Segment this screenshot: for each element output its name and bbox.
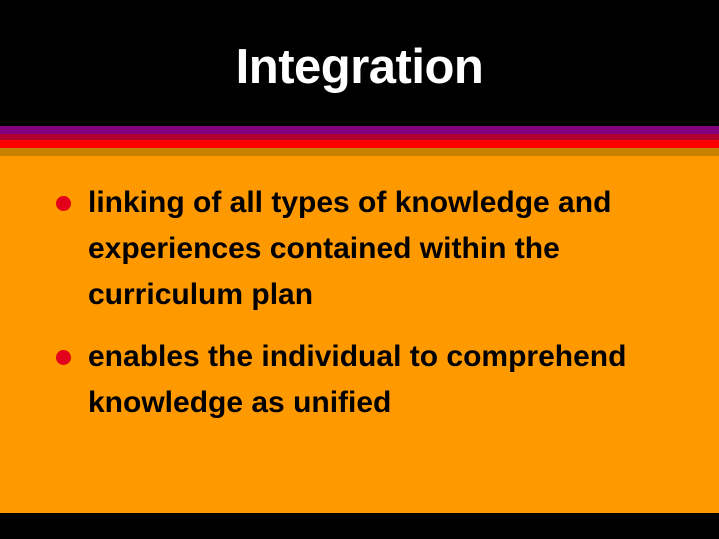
accent-stripe-purple — [0, 126, 719, 134]
list-item: linking of all types of knowledge and ex… — [52, 180, 682, 318]
slide-title: Integration — [0, 38, 719, 96]
title-band: Integration — [0, 0, 719, 126]
presentation-slide: Integration linking of all types of know… — [0, 0, 719, 539]
disc-bullet-icon — [56, 196, 71, 211]
list-item-label: enables the individual to comprehend kno… — [88, 334, 682, 426]
bullet-list: linking of all types of knowledge and ex… — [52, 180, 682, 442]
list-item-label: linking of all types of knowledge and ex… — [88, 180, 682, 318]
list-item: enables the individual to comprehend kno… — [52, 334, 682, 426]
footer-band — [0, 513, 719, 539]
accent-stripe-gold — [0, 148, 719, 156]
slide-body: linking of all types of knowledge and ex… — [0, 156, 719, 513]
accent-stripe-red — [0, 140, 719, 148]
disc-bullet-icon — [56, 350, 71, 365]
